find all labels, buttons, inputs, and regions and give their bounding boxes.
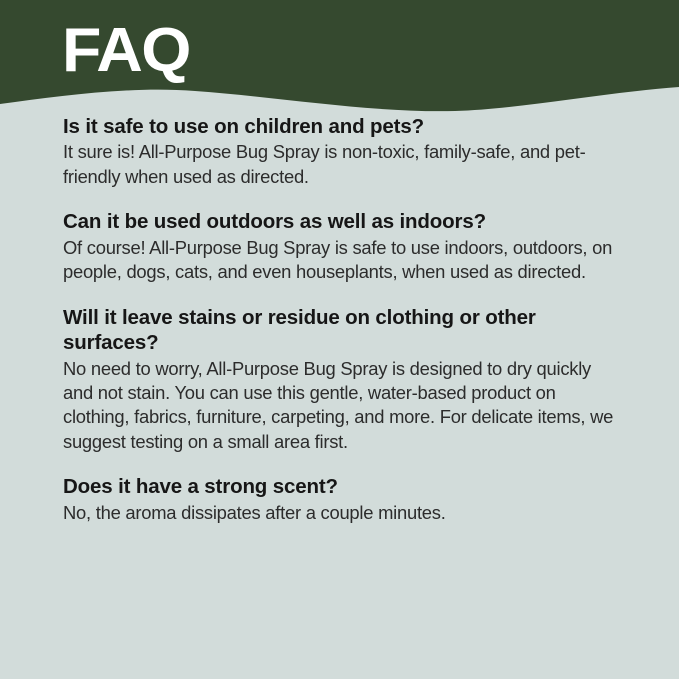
faq-question: Will it leave stains or residue on cloth… bbox=[63, 305, 619, 356]
faq-answer: It sure is! All-Purpose Bug Spray is non… bbox=[63, 140, 619, 189]
faq-question: Can it be used outdoors as well as indoo… bbox=[63, 209, 619, 234]
faq-page: FAQ Is it safe to use on children and pe… bbox=[0, 0, 679, 679]
faq-banner: FAQ bbox=[0, 0, 679, 125]
faq-question: Does it have a strong scent? bbox=[63, 474, 619, 499]
faq-item: Will it leave stains or residue on cloth… bbox=[63, 305, 619, 455]
faq-list: Is it safe to use on children and pets? … bbox=[63, 114, 619, 525]
faq-item: Does it have a strong scent? No, the aro… bbox=[63, 474, 619, 525]
faq-item: Is it safe to use on children and pets? … bbox=[63, 114, 619, 189]
page-title: FAQ bbox=[62, 20, 190, 82]
faq-item: Can it be used outdoors as well as indoo… bbox=[63, 209, 619, 284]
faq-question: Is it safe to use on children and pets? bbox=[63, 114, 619, 139]
faq-answer: Of course! All-Purpose Bug Spray is safe… bbox=[63, 236, 619, 285]
faq-answer: No need to worry, All-Purpose Bug Spray … bbox=[63, 357, 619, 455]
faq-answer: No, the aroma dissipates after a couple … bbox=[63, 501, 619, 525]
